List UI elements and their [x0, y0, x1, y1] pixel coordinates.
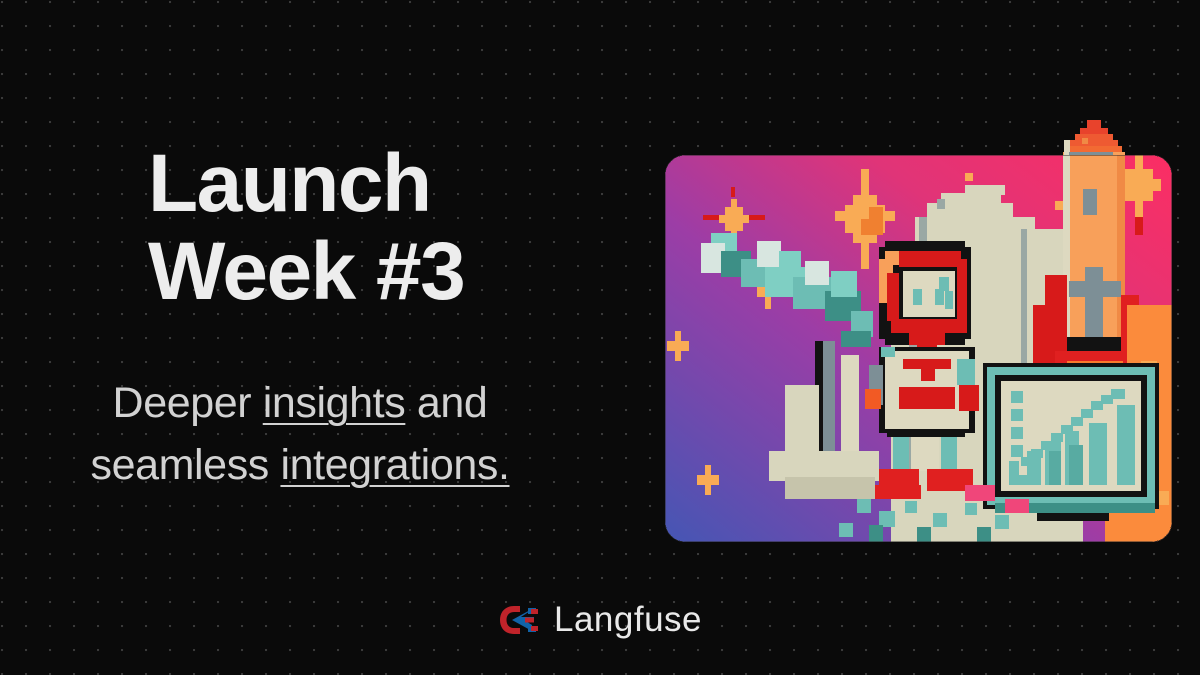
subtitle-line-1: Deeper insights and — [113, 379, 488, 427]
rocket-nose-icon — [665, 108, 1172, 162]
subtitle-line-2: seamless integrations. — [90, 441, 509, 489]
subtitle: Deeper insights and seamless integration… — [0, 373, 640, 495]
hero-artwork — [665, 155, 1172, 542]
langfuse-logo-icon — [498, 603, 540, 637]
subtitle-text-deeper: Deeper — [113, 379, 263, 427]
subtitle-link-insights[interactable]: insights — [263, 379, 406, 427]
pixel-art-illustration — [665, 155, 1172, 542]
brand-name: Langfuse — [554, 600, 702, 640]
subtitle-text-seamless: seamless — [90, 441, 280, 489]
brand-footer: Langfuse — [0, 600, 1200, 640]
launch-week-slide: Launch Week #3 Deeper insights and seaml… — [0, 0, 1200, 675]
copy-block: Launch Week #3 Deeper insights and seaml… — [0, 140, 640, 496]
rocket-nose-overflow — [665, 108, 1172, 158]
subtitle-link-integrations[interactable]: integrations. — [280, 441, 509, 489]
subtitle-text-and: and — [405, 379, 487, 427]
page-title: Launch Week #3 — [0, 140, 640, 315]
